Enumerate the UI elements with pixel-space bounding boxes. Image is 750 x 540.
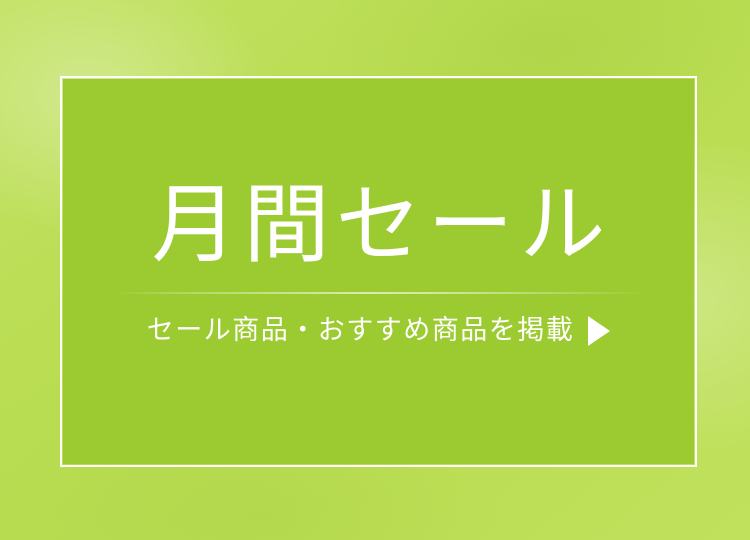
banner-subtitle-row[interactable]: セール商品・おすすめ商品を掲載 — [147, 316, 611, 346]
monthly-sale-banner[interactable]: 月間セール セール商品・おすすめ商品を掲載 — [0, 0, 750, 540]
triangle-right-icon — [588, 316, 610, 346]
banner-title: 月間セール — [146, 182, 612, 268]
banner-subtitle: セール商品・おすすめ商品を掲載 — [147, 317, 575, 344]
banner-divider — [113, 292, 645, 294]
